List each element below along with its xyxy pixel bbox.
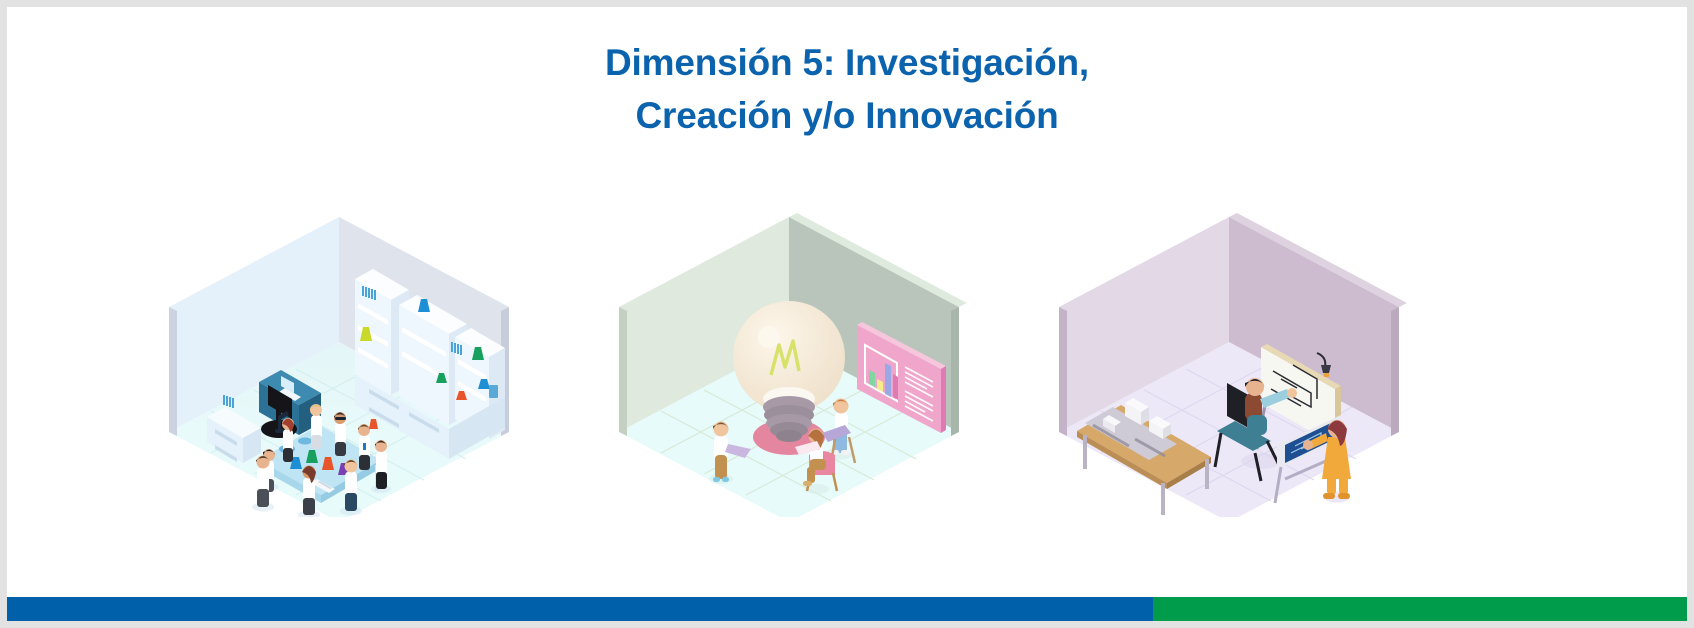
- illustration-row: [7, 167, 1687, 527]
- illustration-innovation: [609, 167, 969, 517]
- illustration-laboratory: [159, 167, 519, 517]
- footer-bar-green: [1153, 597, 1687, 621]
- footer-bar-blue: [7, 597, 1153, 621]
- illustration-design-studio: [1049, 167, 1409, 517]
- footer-color-bars: [7, 597, 1687, 621]
- page-title: Dimensión 5: Investigación, Creación y/o…: [7, 37, 1687, 142]
- slide-canvas: Dimensión 5: Investigación, Creación y/o…: [7, 7, 1687, 621]
